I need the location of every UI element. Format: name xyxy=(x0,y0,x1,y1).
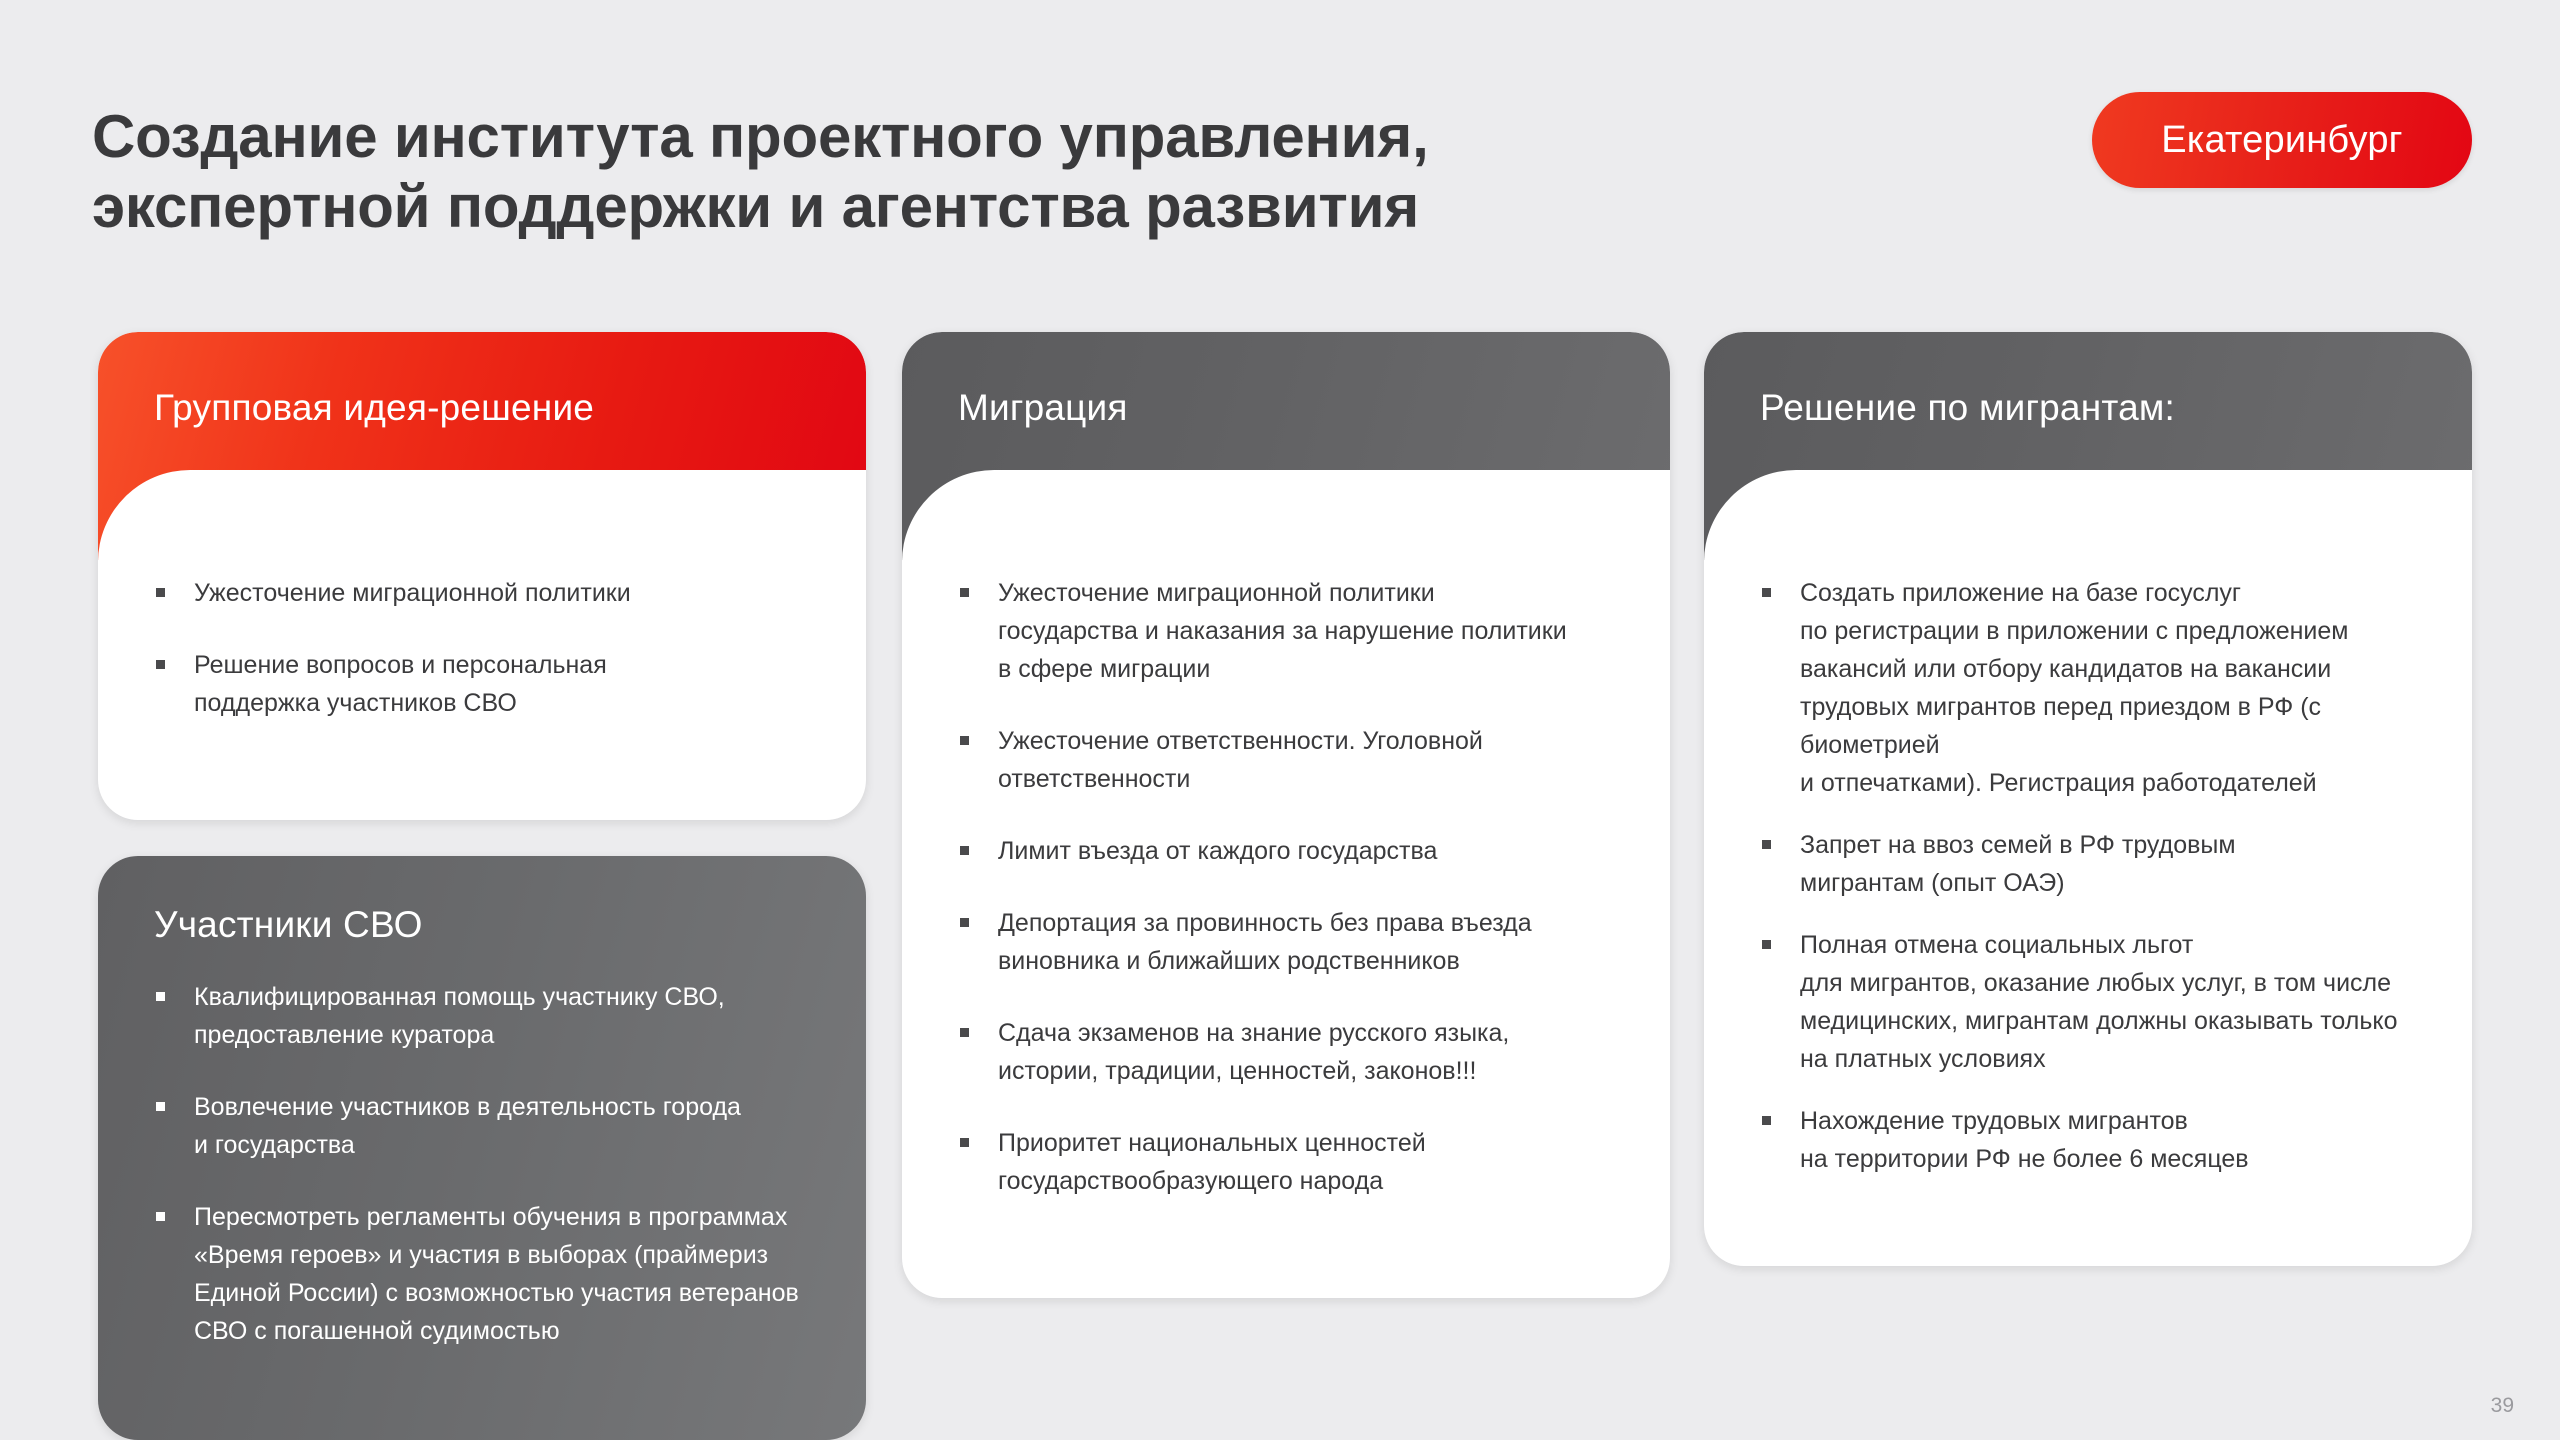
list-item: Создать приложение на базе госуслуг по р… xyxy=(1760,574,2416,802)
column-2: Миграция Ужесточение миграционной полити… xyxy=(902,332,1670,1298)
list-item: Квалифицированная помощь участнику СВО, … xyxy=(154,978,810,1054)
card-migration: Миграция Ужесточение миграционной полити… xyxy=(902,332,1670,1298)
list-item: Нахождение трудовых мигрантов на террито… xyxy=(1760,1102,2416,1178)
list-item: Ужесточение миграционной политики xyxy=(154,574,810,612)
card-body: Ужесточение миграционной политики Решени… xyxy=(98,470,866,820)
bullet-list: Квалифицированная помощь участнику СВО, … xyxy=(154,978,810,1350)
list-item: Лимит въезда от каждого государства xyxy=(958,832,1614,870)
card-svo-participants: Участники СВО Квалифицированная помощь у… xyxy=(98,856,866,1440)
card-title: Решение по мигрантам: xyxy=(1760,386,2416,430)
card-migrant-solution: Решение по мигрантам: Создать приложение… xyxy=(1704,332,2472,1266)
list-item: Вовлечение участников в деятельность гор… xyxy=(154,1088,810,1164)
column-1: Групповая идея-решение Ужесточение мигра… xyxy=(98,332,866,1440)
list-item: Решение вопросов и персональная поддержк… xyxy=(154,646,810,722)
list-item: Ужесточение ответственности. Уголовной о… xyxy=(958,722,1614,798)
column-3: Решение по мигрантам: Создать приложение… xyxy=(1704,332,2472,1266)
bullet-list: Ужесточение миграционной политики госуда… xyxy=(958,574,1614,1200)
list-item: Полная отмена социальных льгот для мигра… xyxy=(1760,926,2416,1078)
list-item: Ужесточение миграционной политики госуда… xyxy=(958,574,1614,688)
bullet-list: Ужесточение миграционной политики Решени… xyxy=(154,574,810,722)
list-item: Приоритет национальных ценностей государ… xyxy=(958,1124,1614,1200)
list-item: Запрет на ввоз семей в РФ трудовым мигра… xyxy=(1760,826,2416,902)
card-title: Миграция xyxy=(958,386,1614,430)
list-item: Сдача экзаменов на знание русского языка… xyxy=(958,1014,1614,1090)
card-gap xyxy=(98,820,866,856)
card-body: Ужесточение миграционной политики госуда… xyxy=(902,470,1670,1298)
card-title: Участники СВО xyxy=(154,904,810,946)
list-item: Пересмотреть регламенты обучения в прогр… xyxy=(154,1198,810,1350)
presentation-slide: Создание института проектного управления… xyxy=(0,0,2560,1440)
cards-grid: Групповая идея-решение Ужесточение мигра… xyxy=(0,0,2560,1440)
card-group-idea: Групповая идея-решение Ужесточение мигра… xyxy=(98,332,866,820)
page-number: 39 xyxy=(2491,1394,2514,1418)
card-title: Групповая идея-решение xyxy=(154,386,810,430)
card-body: Создать приложение на базе госуслуг по р… xyxy=(1704,470,2472,1266)
bullet-list: Создать приложение на базе госуслуг по р… xyxy=(1760,574,2416,1178)
list-item: Депортация за провинность без права въез… xyxy=(958,904,1614,980)
